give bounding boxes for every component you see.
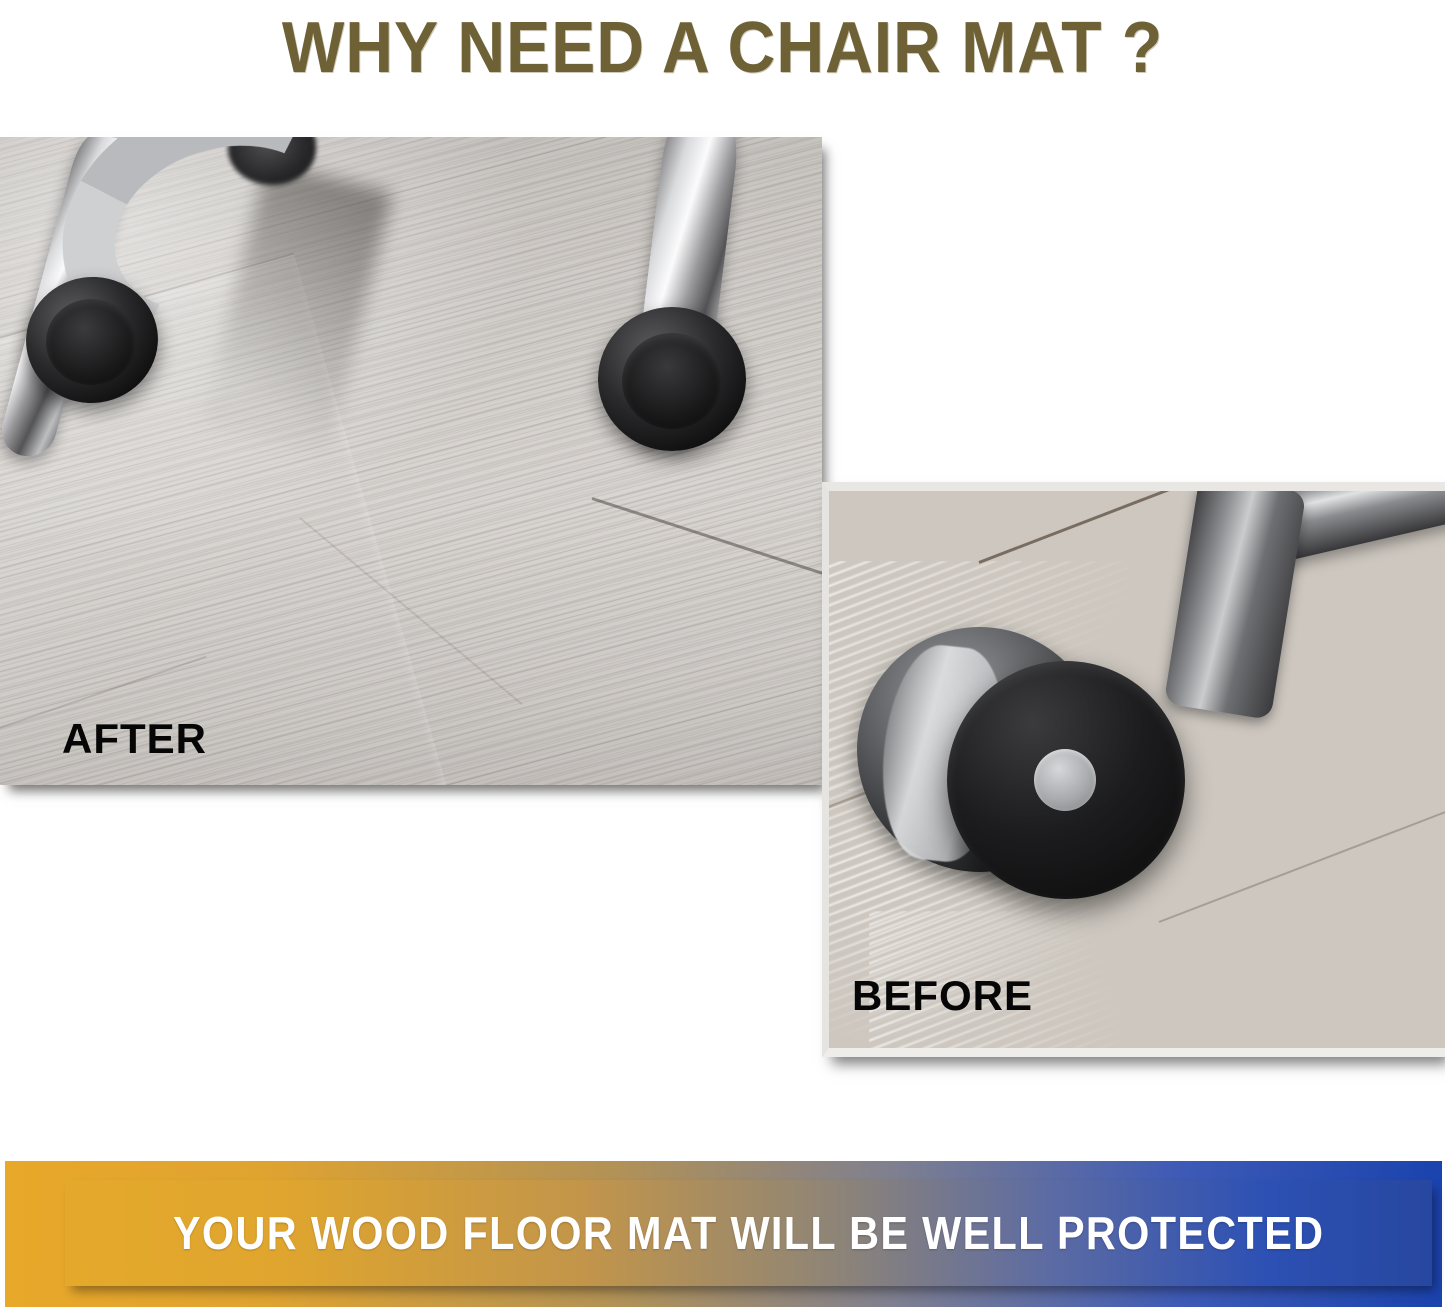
after-caption: AFTER xyxy=(62,715,207,763)
before-caption: BEFORE xyxy=(852,972,1033,1020)
caster-hub-icon xyxy=(46,299,136,385)
after-photo: AFTER xyxy=(0,137,822,785)
caster-hub-icon xyxy=(1034,749,1096,811)
before-photo: BEFORE xyxy=(822,482,1445,1057)
page-title: WHY NEED A CHAIR MAT ? xyxy=(58,0,1387,96)
caster-hub-icon xyxy=(622,333,722,429)
banner-text: YOUR WOOD FLOOR MAT WILL BE WELL PROTECT… xyxy=(173,1206,1324,1260)
promo-banner: YOUR WOOD FLOOR MAT WILL BE WELL PROTECT… xyxy=(65,1180,1432,1286)
